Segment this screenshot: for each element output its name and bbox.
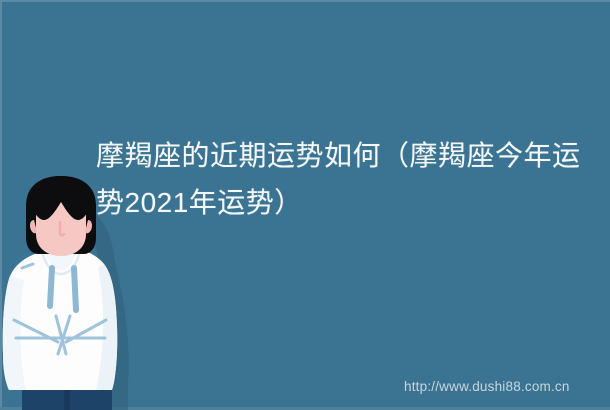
canvas-top-edge <box>0 0 610 2</box>
source-watermark: http://www.dushi88.com.cn <box>404 379 570 394</box>
hoodie <box>3 245 118 390</box>
image-canvas: 摩羯座的近期运势如何（摩羯座今年运势2021年运势） http://www.du… <box>0 0 610 410</box>
page-title: 摩羯座的近期运势如何（摩羯座今年运势2021年运势） <box>96 132 588 226</box>
